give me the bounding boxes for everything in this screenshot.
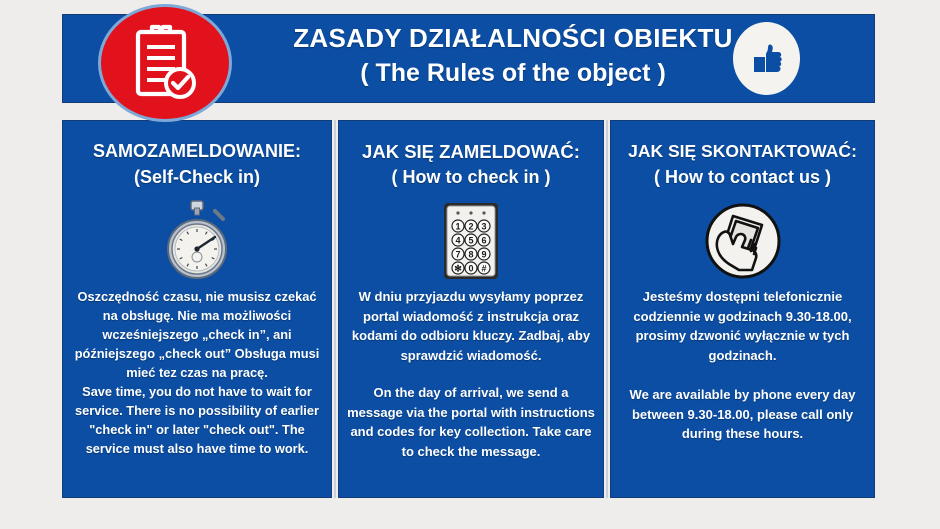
hand-holding-phone-icon (611, 195, 874, 287)
column-divider-1 (334, 120, 336, 498)
svg-text:2: 2 (468, 221, 473, 231)
column-3-heading-polish: JAK SIĘ SKONTAKTOWAĆ: (617, 139, 868, 164)
svg-text:#: # (481, 263, 486, 273)
svg-text:8: 8 (468, 249, 473, 259)
column-2-body-polish: W dniu przyjazdu wysyłamy poprzez portal… (339, 287, 603, 365)
svg-text:3: 3 (481, 221, 486, 231)
poster-root: ZASADY DZIAŁALNOŚCI OBIEKTU ( The Rules … (0, 0, 940, 529)
svg-text:7: 7 (455, 249, 460, 259)
svg-text:✻: ✻ (454, 263, 462, 273)
column-3-body-english: We are available by phone every day betw… (611, 385, 874, 444)
column-2-heading-english: ( How to check in ) (345, 164, 597, 191)
column-3-heading: JAK SIĘ SKONTAKTOWAĆ: ( How to contact u… (611, 139, 874, 191)
clipboard-check-icon (98, 4, 232, 122)
page-title: ZASADY DZIAŁALNOŚCI OBIEKTU ( The Rules … (233, 21, 793, 91)
svg-text:4: 4 (455, 235, 460, 245)
column-1-heading-english: (Self-Check in) (69, 164, 325, 191)
column-how-to-check-in: JAK SIĘ ZAMELDOWAĆ: ( How to check in ) … (338, 120, 604, 498)
column-1-body-english: Save time, you do not have to wait for s… (63, 382, 331, 458)
column-3-heading-english: ( How to contact us ) (617, 164, 868, 191)
stopwatch-icon (63, 195, 331, 287)
column-1-heading-polish: SAMOZAMELDOWANIE: (69, 139, 325, 164)
column-1-heading: SAMOZAMELDOWANIE: (Self-Check in) (63, 139, 331, 191)
column-how-to-contact-us: JAK SIĘ SKONTAKTOWAĆ: ( How to contact u… (610, 120, 875, 498)
keypad-icon: 1 2 3 4 5 6 7 8 9 ✻ 0 # (339, 195, 603, 287)
column-2-heading: JAK SIĘ ZAMELDOWAĆ: ( How to check in ) (339, 139, 603, 191)
page-title-english: ( The Rules of the object ) (233, 55, 793, 91)
column-2-body-english: On the day of arrival, we send a message… (339, 383, 603, 461)
svg-text:5: 5 (468, 235, 473, 245)
thumbs-up-icon (733, 22, 800, 95)
column-1-body-polish: Oszczędność czasu, nie musisz czekać na … (63, 287, 331, 382)
column-2-heading-polish: JAK SIĘ ZAMELDOWAĆ: (345, 139, 597, 164)
column-self-check-in: SAMOZAMELDOWANIE: (Self-Check in) (62, 120, 332, 498)
column-3-body-polish: Jesteśmy dostępni telefonicznie codzienn… (611, 287, 874, 365)
column-divider-2 (606, 120, 608, 498)
svg-text:0: 0 (468, 263, 473, 273)
page-title-polish: ZASADY DZIAŁALNOŚCI OBIEKTU (233, 21, 793, 55)
svg-text:1: 1 (455, 221, 460, 231)
svg-text:6: 6 (481, 235, 486, 245)
svg-text:9: 9 (481, 249, 486, 259)
